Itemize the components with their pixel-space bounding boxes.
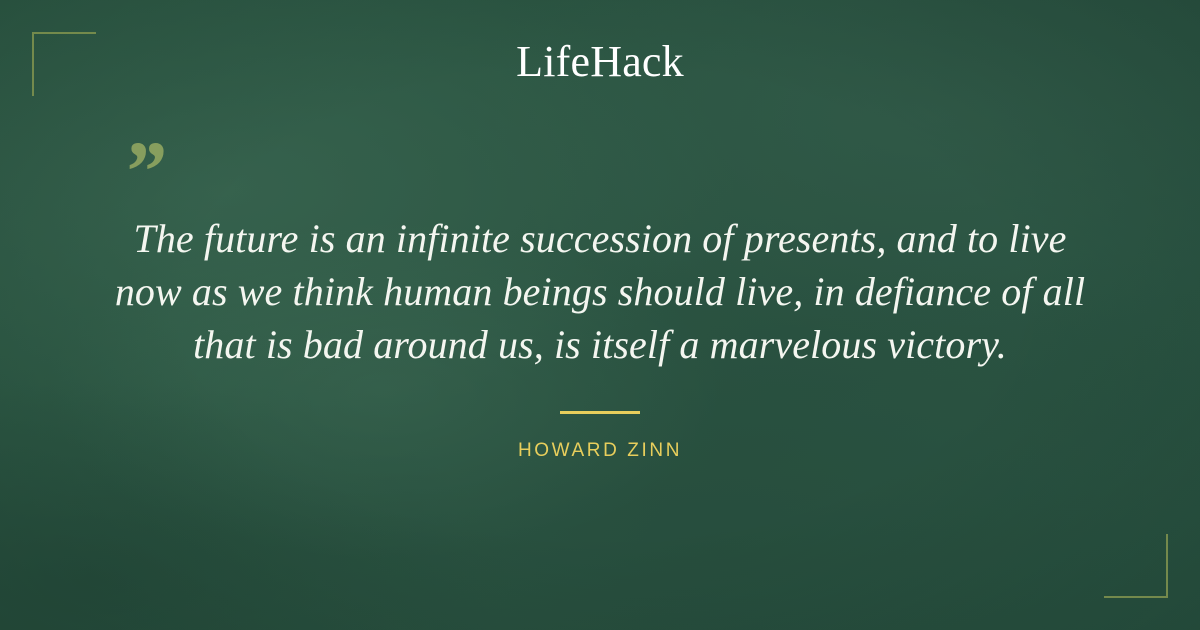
quote-line-1: The future is an infinite succession of … [86, 212, 1114, 265]
quote-line-2: now as we think human beings should live… [86, 265, 1114, 318]
quote-card: LifeHack ” The future is an infinite suc… [0, 0, 1200, 630]
quote-block: The future is an infinite succession of … [86, 212, 1114, 371]
quotation-mark-icon: ” [122, 128, 165, 214]
quote-line-3: that is bad around us, is itself a marve… [86, 318, 1114, 371]
attribution-divider [560, 411, 640, 414]
brand-logo: LifeHack [0, 40, 1200, 84]
quote-author: HOWARD ZINN [0, 440, 1200, 462]
